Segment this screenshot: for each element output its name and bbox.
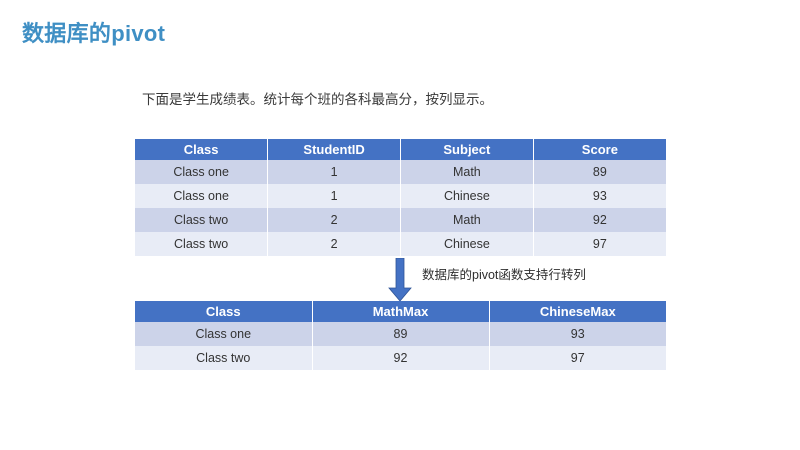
prompt-text: 下面是学生成绩表。统计每个班的各科最高分，按列显示。 [142, 88, 493, 108]
arrow-down-icon [388, 258, 412, 302]
table-header-row: Class MathMax ChineseMax [135, 301, 666, 322]
cell-studentid: 2 [268, 232, 401, 256]
cell-class: Class two [135, 208, 268, 232]
table-row: Class one 1 Chinese 93 [135, 184, 666, 208]
cell-studentid: 1 [268, 160, 401, 184]
cell-subject: Math [401, 208, 534, 232]
cell-mathmax: 89 [312, 322, 489, 346]
cell-score: 89 [533, 160, 666, 184]
cell-class: Class one [135, 184, 268, 208]
annotation-text: 数据库的pivot函数支持行转列 [422, 264, 586, 283]
column-header-class: Class [135, 301, 312, 322]
cell-chinesemax: 93 [489, 322, 666, 346]
cell-class: Class one [135, 322, 312, 346]
cell-chinesemax: 97 [489, 346, 666, 370]
cell-subject: Chinese [401, 232, 534, 256]
column-header-class: Class [135, 139, 268, 160]
table-row: Class one 89 93 [135, 322, 666, 346]
cell-studentid: 2 [268, 208, 401, 232]
slide-canvas: 数据库的pivot 下面是学生成绩表。统计每个班的各科最高分，按列显示。 Cla… [0, 0, 800, 450]
cell-score: 92 [533, 208, 666, 232]
cell-subject: Math [401, 160, 534, 184]
student-scores-table: Class StudentID Subject Score Class one … [135, 139, 666, 256]
cell-score: 93 [533, 184, 666, 208]
table-row: Class two 92 97 [135, 346, 666, 370]
cell-subject: Chinese [401, 184, 534, 208]
table-row: Class two 2 Chinese 97 [135, 232, 666, 256]
table-row: Class two 2 Math 92 [135, 208, 666, 232]
column-header-mathmax: MathMax [312, 301, 489, 322]
cell-studentid: 1 [268, 184, 401, 208]
column-header-studentid: StudentID [268, 139, 401, 160]
pivoted-scores-table: Class MathMax ChineseMax Class one 89 93… [135, 301, 666, 370]
column-header-subject: Subject [401, 139, 534, 160]
page-title: 数据库的pivot [22, 16, 165, 48]
table-row: Class one 1 Math 89 [135, 160, 666, 184]
cell-class: Class two [135, 346, 312, 370]
cell-mathmax: 92 [312, 346, 489, 370]
column-header-score: Score [533, 139, 666, 160]
cell-score: 97 [533, 232, 666, 256]
cell-class: Class two [135, 232, 268, 256]
column-header-chinesemax: ChineseMax [489, 301, 666, 322]
cell-class: Class one [135, 160, 268, 184]
table-header-row: Class StudentID Subject Score [135, 139, 666, 160]
